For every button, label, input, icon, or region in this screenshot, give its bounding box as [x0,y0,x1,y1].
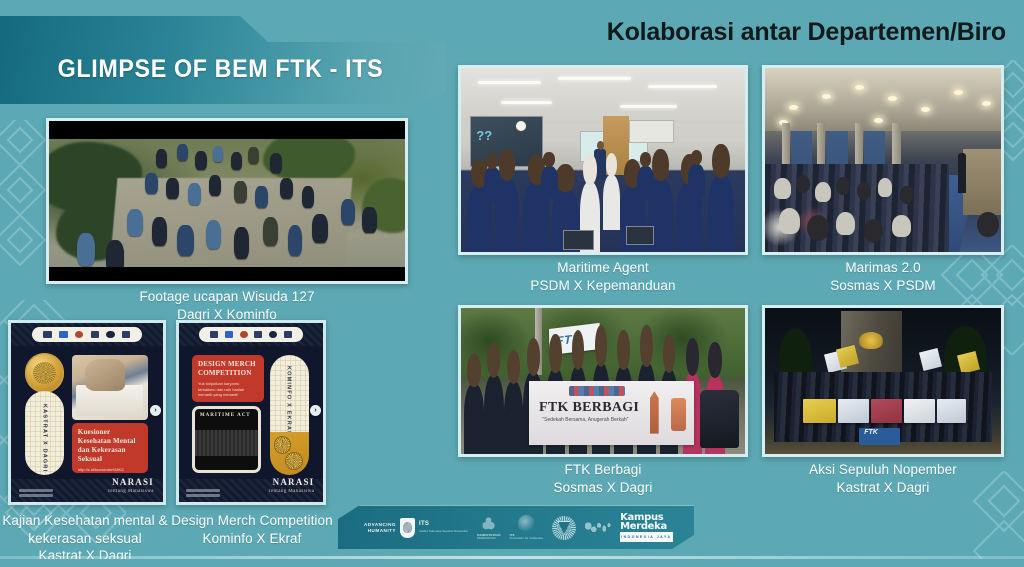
student [688,164,705,197]
rider [145,173,158,194]
poster-brand: NARASI Tentang Mahasiswa [268,478,315,496]
department-banner [803,399,836,424]
rider [302,186,314,208]
mosque-graphic [644,391,664,433]
rider [213,146,224,163]
motorcycle [700,390,740,448]
toolbar-glyph [284,331,292,338]
title-banner: GLIMPSE OF BEM FTK - ITS [0,16,446,104]
light-tube [620,105,677,108]
laptop [626,226,654,244]
rider [341,199,355,225]
rider [288,225,303,256]
toolbar-glyph [269,331,277,338]
its-circle-icon [518,515,535,532]
ftk-banner: FTK [859,428,899,446]
downlight [789,105,798,110]
lantern-graphic [671,398,686,431]
rider [280,178,293,199]
media-thumbnail-ftk-berbagi[interactable]: FTK FTK BERBAGI "Sedekah Bersama, Anuger… [458,305,748,457]
downlight [921,107,930,112]
rider [177,225,193,256]
rider [156,149,167,167]
downlight [954,90,963,95]
attendee [815,182,832,202]
rider [106,240,125,269]
downlight [822,94,831,99]
attendee [774,178,791,198]
poster-red-banner: Kuesioner Kesehatan Mental dan Kekerasan… [72,423,148,473]
rider [234,227,249,258]
caption-marimas-2-0: Marimas 2.0 Sosmas X PSDM [762,259,1004,294]
poster-toolbar-pill [32,327,141,341]
rider [234,181,247,203]
poster-gold-seal [25,353,65,393]
indonesia-map-icon [585,520,611,535]
participant [504,381,524,454]
student [484,167,501,204]
wall-panel [629,120,674,144]
rider [255,186,267,208]
media-thumbnail-maritime-agent[interactable]: ?? [458,65,748,255]
caption-design-merch-competition: Design Merch Competition Kominfo X Ekraf [170,512,334,547]
attendee [836,177,850,195]
toolbar-glyph [225,331,233,338]
rider [362,207,376,233]
logo-kemdikbud: KEMENTERIAN PENDIDIKAN [477,515,500,541]
attendee [878,178,892,196]
wall-clock [515,120,527,132]
its-label: ITS Institut Teknologi Sepuluh Nopember [419,521,468,535]
participant [464,384,484,454]
photo-scene-auditorium [765,68,1001,252]
light-tube [648,85,716,88]
toolbar-glyph [240,331,248,338]
attendee [900,186,914,204]
poster-social-handles [19,489,53,497]
attendee [864,219,883,243]
letterbox-top [49,121,405,139]
caption-footage-wisuda: Footage ucapan Wisuda 127 Dagri X Kominf… [46,288,408,323]
rider [77,233,95,267]
media-thumbnail-kajian-kesehatan-mental[interactable]: KASTRAT X DAGRI Kuesioner Kesehatan Ment… [8,320,166,505]
media-thumbnail-design-merch-competition[interactable]: DESIGN MERCH COMPETITION Yuk tunjukkan k… [176,320,326,505]
slide-canvas: GLIMPSE OF BEM FTK - ITS Kolaborasi anta… [0,0,1024,567]
attendee [977,212,998,238]
poster-gold-panel [270,432,309,475]
rider [195,151,207,171]
its-shield-icon [400,518,415,538]
toolbar-glyph [43,331,51,338]
caption-ftk-berbagi: FTK Berbagi Sosmas X Dagri [458,461,748,496]
poster-photo-writing-hands [72,355,148,419]
waving-flag [919,348,942,371]
department-banner [937,399,965,424]
department-banner [838,399,869,424]
ceiling [765,68,1001,131]
rider [177,144,188,161]
page-title: GLIMPSE OF BEM FTK - ITS [0,37,383,84]
attendee [892,215,911,237]
kemdikbud-caption: KEMENTERIAN PENDIDIKAN [477,533,500,540]
student [603,175,620,230]
participant [484,375,504,454]
its-gear-emblem-icon [552,516,576,540]
poster-photo-maritime-act: MARITIME ACT [195,409,258,470]
media-thumbnail-marimas-2-0[interactable] [762,65,1004,255]
rider [127,209,143,236]
light-tube [501,101,552,104]
section-heading: Kolaborasi antar Departemen/Biro [607,18,1006,47]
gold-seal [285,452,303,470]
rider [312,214,328,243]
attendee [836,212,855,236]
poster-grid-panel: KOMINFO X EKRAF [270,355,309,434]
toolbar-glyph [59,331,67,338]
rider [188,183,201,205]
department-banner [871,399,902,424]
photo-scene-night-monument: FTK [765,308,1001,454]
kemdikbud-icon [480,515,497,532]
student [541,166,558,199]
toolbar-glyph [254,331,262,338]
logo-its-innovation: ITS Innovation for Indonesia [510,515,544,541]
poster-brand: NARASI Tentang Mahasiswa [107,478,154,496]
attendee [796,175,810,193]
downlight [855,85,864,90]
carousel-next-button[interactable]: › [310,405,321,416]
carousel-next-button[interactable]: › [150,405,161,416]
poster-social-handles [186,489,220,497]
poster-red-banner: DESIGN MERCH COMPETITION Yuk tunjukkan k… [192,355,264,402]
video-scene-motorcycle-convoy [49,139,405,269]
caption-aksi-sepuluh-nopember: Aksi Sepuluh Nopember Kastrat X Dagri [762,461,1004,496]
laptop [563,230,594,250]
toolbar-glyph [91,331,99,338]
banner-logos [569,386,625,396]
rider [166,178,178,199]
letterbox-bottom [49,267,405,281]
toolbar-glyph [210,331,218,338]
footer-logo-bar: ADVANCING HUMANITY ITS Institut Teknolog… [338,505,694,549]
photo-scene-ftk-berbagi: FTK FTK BERBAGI "Sedekah Bersama, Anuger… [461,308,745,454]
rider [209,175,221,196]
toolbar-glyph [122,331,130,338]
logo-kampus-merdeka: Kampus Merdeka INDONESIA JAYA [620,513,672,543]
rider [231,152,242,170]
toolbar-glyph [75,331,83,338]
rider [206,220,222,250]
downlight [874,118,883,123]
media-thumbnail-aksi-sepuluh-nopember[interactable]: FTK [762,305,1004,457]
rider [248,147,259,164]
rider [263,217,279,246]
logo-its-advancing-humanity: ADVANCING HUMANITY ITS Institut Teknolog… [364,518,468,538]
stage-platform [963,149,1001,215]
poster-grid-panel: KASTRAT X DAGRI [25,391,65,475]
media-thumbnail-footage-wisuda[interactable] [46,118,408,284]
student [637,166,654,199]
its-innovation-caption: ITS Innovation for Indonesia [510,533,544,540]
downlight [888,96,897,101]
department-banner [904,399,935,424]
light-tube [478,81,540,84]
rider [152,217,167,246]
ftk-berbagi-banner: FTK BERBAGI "Sedekah Bersama, Anugerah B… [529,381,694,445]
slide-bottom-edge [0,559,1024,567]
attendee [807,215,828,241]
caption-maritime-agent: Maritime Agent PSDM X Kepemanduan [458,259,748,294]
attendee [779,208,800,234]
poster-toolbar-pill [199,327,303,341]
light-tube [558,77,632,80]
gold-seal [274,436,292,454]
toolbar-glyph [106,331,114,338]
student [708,175,734,252]
advancing-humanity-text: ADVANCING HUMANITY [364,522,396,534]
rider [270,153,282,173]
speaker-standing [958,153,966,193]
photo-scene-classroom: ?? [461,68,745,252]
